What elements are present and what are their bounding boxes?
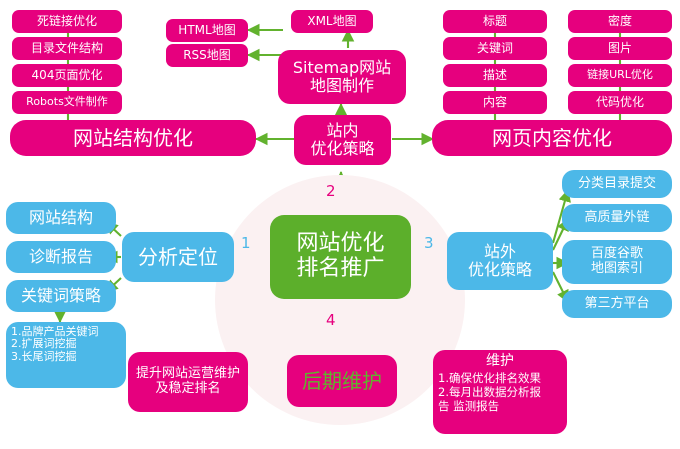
- node-onsite-strategy[interactable]: 站内 优化策略: [294, 115, 391, 165]
- node-offsite-strategy[interactable]: 站外 优化策略: [447, 232, 553, 290]
- maintenance-items: 1.确保优化排名效果 2.每月出数据分析报 告 监测报告: [438, 371, 562, 414]
- maintenance-title: 维护: [438, 354, 562, 370]
- node-directory-submission[interactable]: 分类目录提交: [562, 170, 672, 198]
- branch-number-1: 1: [241, 234, 251, 252]
- node-density[interactable]: 密度: [568, 10, 672, 33]
- node-keyword-list[interactable]: 1.品牌产品关键词 2.扩展词挖掘 3.长尾词挖掘: [6, 322, 126, 388]
- node-high-quality-backlinks[interactable]: 高质量外链: [562, 204, 672, 232]
- node-site-structure-optimization[interactable]: 网站结构优化: [10, 120, 256, 156]
- node-analysis-positioning[interactable]: 分析定位: [122, 232, 234, 282]
- node-code-optimization[interactable]: 代码优化: [568, 91, 672, 114]
- node-keyword-strategy[interactable]: 关键词策略: [6, 280, 116, 312]
- node-keywords[interactable]: 关键词: [443, 37, 547, 60]
- node-center-website-optimization[interactable]: 网站优化 排名推广: [270, 215, 411, 299]
- node-third-party-platform[interactable]: 第三方平台: [562, 290, 672, 318]
- node-title[interactable]: 标题: [443, 10, 547, 33]
- node-diagnostic-report[interactable]: 诊断报告: [6, 241, 116, 273]
- node-dead-link-optimization[interactable]: 死链接优化: [12, 10, 122, 33]
- node-robots-file-creation[interactable]: Robots文件制作: [12, 91, 122, 114]
- node-post-maintenance[interactable]: 后期维护: [287, 355, 397, 407]
- node-improve-operations[interactable]: 提升网站运营维护 及稳定排名: [128, 352, 248, 412]
- branch-number-4: 4: [326, 311, 336, 329]
- node-images[interactable]: 图片: [568, 37, 672, 60]
- node-description[interactable]: 描述: [443, 64, 547, 87]
- node-html-sitemap[interactable]: HTML地图: [166, 19, 248, 42]
- node-link-url-optimization[interactable]: 链接URL优化: [568, 64, 672, 87]
- node-page-content-optimization[interactable]: 网页内容优化: [432, 120, 672, 156]
- node-sitemap-creation[interactable]: Sitemap网站 地图制作: [278, 50, 406, 104]
- node-xml-sitemap[interactable]: XML地图: [291, 10, 373, 33]
- node-rss-sitemap[interactable]: RSS地图: [166, 44, 248, 67]
- node-baidu-google-map-index[interactable]: 百度谷歌 地图索引: [562, 240, 672, 284]
- node-content[interactable]: 内容: [443, 91, 547, 114]
- diagram-canvas: 死链接优化 目录文件结构 404页面优化 Robots文件制作 网站结构优化 H…: [0, 0, 680, 449]
- branch-number-2: 2: [326, 182, 336, 200]
- node-maintenance-details[interactable]: 维护 1.确保优化排名效果 2.每月出数据分析报 告 监测报告: [433, 350, 567, 434]
- node-directory-file-structure[interactable]: 目录文件结构: [12, 37, 122, 60]
- branch-number-3: 3: [424, 234, 434, 252]
- node-website-structure[interactable]: 网站结构: [6, 202, 116, 234]
- node-404-page-optimization[interactable]: 404页面优化: [12, 64, 122, 87]
